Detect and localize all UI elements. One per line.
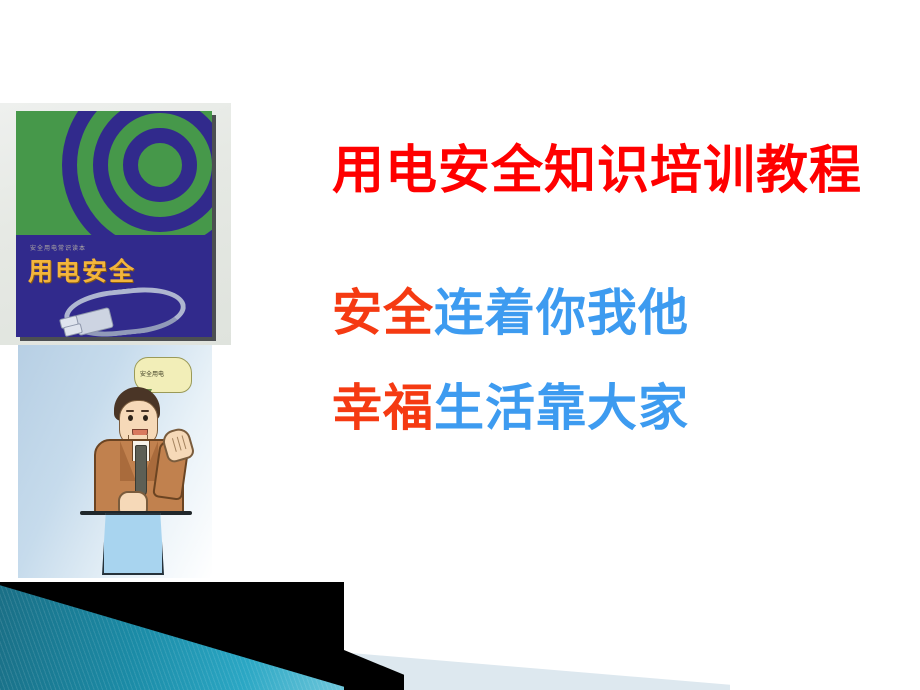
- plug-icon: [42, 287, 192, 335]
- slide-title: 用电安全知识培训教程: [332, 145, 862, 197]
- subtitle-line-1: 安全连着你我他: [332, 288, 689, 338]
- subtitle-1-rest: 连着你我他: [434, 283, 689, 342]
- subtitle-2-rest: 生活靠大家: [434, 378, 689, 437]
- character-necktie: [135, 445, 147, 497]
- speech-bubble-text: 安全用电: [140, 369, 164, 378]
- finger-line-three: [182, 435, 187, 449]
- book-cover-subtitle: 安全用电常识读本: [30, 243, 86, 252]
- concentric-ring-inner: [123, 128, 197, 202]
- character-eye-right: [143, 415, 148, 421]
- subtitle-line-2: 幸福生活靠大家: [332, 383, 689, 433]
- finger-line-two: [177, 437, 182, 451]
- subtitle-2-accent: 幸福: [332, 378, 434, 437]
- cartoon-presenter-photo: 安全用电: [18, 345, 212, 578]
- book-cover-art: 安全用电常识读本 用电安全: [16, 111, 212, 337]
- finger-line-one: [172, 438, 177, 452]
- podium: [102, 513, 164, 575]
- character-eyebrow-left: [126, 410, 134, 412]
- subtitle-1-accent: 安全: [332, 283, 434, 342]
- book-cover-photo: 安全用电常识读本 用电安全: [0, 103, 231, 345]
- character-eyebrow-right: [141, 410, 149, 412]
- character-lapel-left: [120, 441, 136, 481]
- character-eye-left: [128, 415, 133, 421]
- book-cover-title: 用电安全: [28, 252, 136, 288]
- presentation-slide: 安全用电常识读本 用电安全 安全用电: [0, 0, 920, 690]
